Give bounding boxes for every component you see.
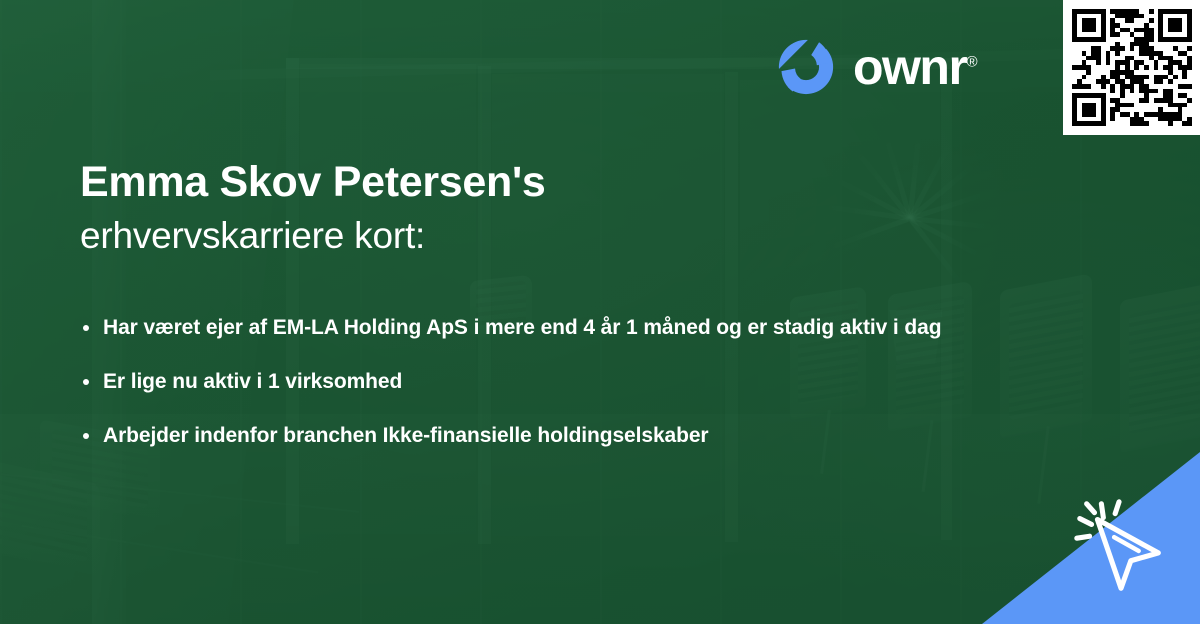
ownr-wordmark: ownr® bbox=[853, 42, 978, 92]
title-line-2: erhvervskarriere kort: bbox=[80, 213, 780, 258]
career-fact-text: Arbejder indenfor branchen Ikke-finansie… bbox=[103, 424, 709, 447]
page-title: Emma Skov Petersen's erhvervskarriere ko… bbox=[80, 158, 780, 258]
qr-module bbox=[1110, 117, 1115, 122]
qr-module bbox=[1130, 18, 1135, 23]
title-line-1: Emma Skov Petersen's bbox=[80, 158, 780, 208]
qr-module bbox=[1096, 60, 1101, 65]
bullet-dot-icon bbox=[83, 433, 89, 439]
career-fact-item: Er lige nu aktiv i 1 virksomhed bbox=[80, 366, 980, 398]
bullet-dot-icon bbox=[83, 379, 89, 385]
qr-module bbox=[1144, 75, 1149, 80]
qr-module bbox=[1091, 112, 1096, 117]
career-fact-item: Arbejder indenfor branchen Ikke-finansie… bbox=[80, 420, 980, 452]
career-card-canvas: ownr® Emma Skov Petersen's erhvervskarri… bbox=[0, 0, 1200, 624]
career-facts-list: Har været ejer af EM-LA Holding ApS i me… bbox=[80, 312, 980, 474]
qr-module bbox=[1101, 84, 1106, 89]
qr-module bbox=[1149, 9, 1154, 14]
qr-module bbox=[1149, 37, 1154, 42]
qr-module bbox=[1130, 103, 1135, 108]
qr-module bbox=[1158, 79, 1163, 84]
qr-module bbox=[1139, 14, 1144, 19]
qr-module bbox=[1120, 93, 1125, 98]
qr-module bbox=[1149, 18, 1154, 23]
ownr-circle-swoosh-mark bbox=[775, 36, 837, 98]
qr-module bbox=[1134, 65, 1139, 70]
qr-module bbox=[1187, 65, 1192, 70]
qr-module bbox=[1115, 32, 1120, 37]
qr-code-panel[interactable] bbox=[1063, 0, 1200, 135]
qr-module bbox=[1115, 51, 1120, 56]
qr-module bbox=[1187, 98, 1192, 103]
qr-module bbox=[1130, 46, 1135, 51]
qr-code bbox=[1072, 9, 1192, 126]
click-cursor-icon bbox=[1068, 494, 1176, 602]
ownr-logo[interactable]: ownr® bbox=[775, 36, 978, 98]
qr-module bbox=[1120, 46, 1125, 51]
qr-module bbox=[1187, 84, 1192, 89]
qr-module bbox=[1144, 98, 1149, 103]
qr-module bbox=[1086, 70, 1091, 75]
qr-module bbox=[1154, 89, 1159, 94]
career-fact-text: Er lige nu aktiv i 1 virksomhed bbox=[103, 370, 402, 393]
qr-module bbox=[1086, 84, 1091, 89]
card-content: Emma Skov Petersen's erhvervskarriere ko… bbox=[0, 0, 1200, 624]
qr-module bbox=[1130, 89, 1135, 94]
qr-module bbox=[1168, 121, 1173, 126]
ownr-wordmark-text: ownr bbox=[853, 39, 966, 95]
qr-module bbox=[1154, 65, 1159, 70]
qr-module bbox=[1182, 103, 1187, 108]
qr-module bbox=[1144, 121, 1149, 126]
registered-trademark-icon: ® bbox=[966, 53, 977, 70]
qr-module bbox=[1168, 79, 1173, 84]
qr-module bbox=[1106, 60, 1111, 65]
qr-module bbox=[1178, 28, 1183, 33]
career-fact-text: Har været ejer af EM-LA Holding ApS i me… bbox=[103, 316, 941, 339]
qr-module bbox=[1091, 28, 1096, 33]
qr-module bbox=[1187, 121, 1192, 126]
career-fact-item: Har været ejer af EM-LA Holding ApS i me… bbox=[80, 312, 980, 344]
qr-module bbox=[1144, 65, 1149, 70]
qr-module bbox=[1187, 46, 1192, 51]
qr-module bbox=[1110, 89, 1115, 94]
qr-module bbox=[1101, 37, 1106, 42]
qr-module bbox=[1187, 37, 1192, 42]
qr-module bbox=[1082, 75, 1087, 80]
bullet-dot-icon bbox=[83, 325, 89, 331]
qr-module bbox=[1182, 75, 1187, 80]
qr-module bbox=[1101, 121, 1106, 126]
qr-module bbox=[1173, 75, 1178, 80]
